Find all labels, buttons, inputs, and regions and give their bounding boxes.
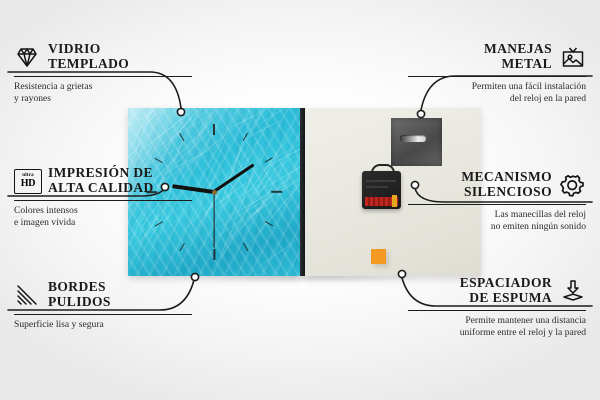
callout-header: MECANISMO SILENCIOSO	[408, 170, 586, 199]
callout-description: Resistencia a grietas y rayones	[14, 81, 192, 104]
foam-spacer-icon	[560, 279, 586, 303]
callout-mecanismo-silencioso: MECANISMO SILENCIOSO Las manecillas del …	[408, 170, 586, 232]
battery-compartment	[365, 197, 398, 206]
callout-divider	[14, 76, 192, 77]
ultra-hd-icon: ultra HD	[14, 169, 40, 193]
callout-title: BORDES PULIDOS	[48, 280, 111, 309]
callout-description: Las manecillas del reloj no emiten ningú…	[408, 209, 586, 232]
gear-icon	[560, 173, 586, 197]
clock-mechanism	[362, 171, 401, 209]
mechanism-detail	[366, 180, 396, 182]
hd-label: HD	[21, 179, 36, 189]
callout-title: IMPRESIÓN DE ALTA CALIDAD	[48, 166, 154, 195]
callout-description: Colores intensos e imagen vívida	[14, 205, 192, 228]
callout-description: Permiten una fácil instalación del reloj…	[408, 81, 586, 104]
mechanism-hook	[371, 164, 395, 176]
picture-hanger-icon	[560, 45, 586, 69]
callout-header: MANEJAS METAL	[408, 42, 586, 71]
infographic-canvas: VIDRIO TEMPLADO Resistencia a grietas y …	[0, 0, 600, 400]
callout-divider	[408, 204, 586, 205]
callout-impresion-alta-calidad: ultra HD IMPRESIÓN DE ALTA CALIDAD Color…	[14, 166, 192, 228]
callout-manejas-metal: MANEJAS METAL Permiten una fácil instala…	[408, 42, 586, 104]
callout-bordes-pulidos: BORDES PULIDOS Superficie lisa y segura	[14, 280, 192, 331]
clock-second-hand	[213, 192, 214, 248]
callout-divider	[408, 310, 586, 311]
callout-header: ESPACIADOR DE ESPUMA	[408, 276, 586, 305]
callout-header: VIDRIO TEMPLADO	[14, 42, 192, 71]
callout-divider	[408, 76, 586, 77]
foam-spacer-square	[371, 249, 386, 264]
callout-title: ESPACIADOR DE ESPUMA	[460, 276, 552, 305]
callout-divider	[14, 200, 192, 201]
mechanism-detail	[366, 186, 388, 188]
clock-center-pin	[212, 190, 217, 195]
callout-title: MECANISMO SILENCIOSO	[461, 170, 552, 199]
hanger-slot	[400, 135, 426, 142]
clock-tick	[213, 249, 215, 260]
clock-tick	[213, 124, 215, 135]
callout-title: MANEJAS METAL	[484, 42, 552, 71]
callout-header: ultra HD IMPRESIÓN DE ALTA CALIDAD	[14, 166, 192, 195]
callout-divider	[14, 314, 192, 315]
polished-edges-icon	[14, 283, 40, 307]
callout-title: VIDRIO TEMPLADO	[48, 42, 129, 71]
clock-tick	[271, 191, 282, 193]
callout-vidrio-templado: VIDRIO TEMPLADO Resistencia a grietas y …	[14, 42, 192, 104]
callout-header: BORDES PULIDOS	[14, 280, 192, 309]
metal-hanger-plate	[391, 118, 442, 166]
callout-espaciador-de-espuma: ESPACIADOR DE ESPUMA Permite mantener un…	[408, 276, 586, 338]
diamond-icon	[14, 45, 40, 69]
callout-description: Permite mantener una distancia uniforme …	[408, 315, 586, 338]
callout-description: Superficie lisa y segura	[14, 319, 192, 331]
